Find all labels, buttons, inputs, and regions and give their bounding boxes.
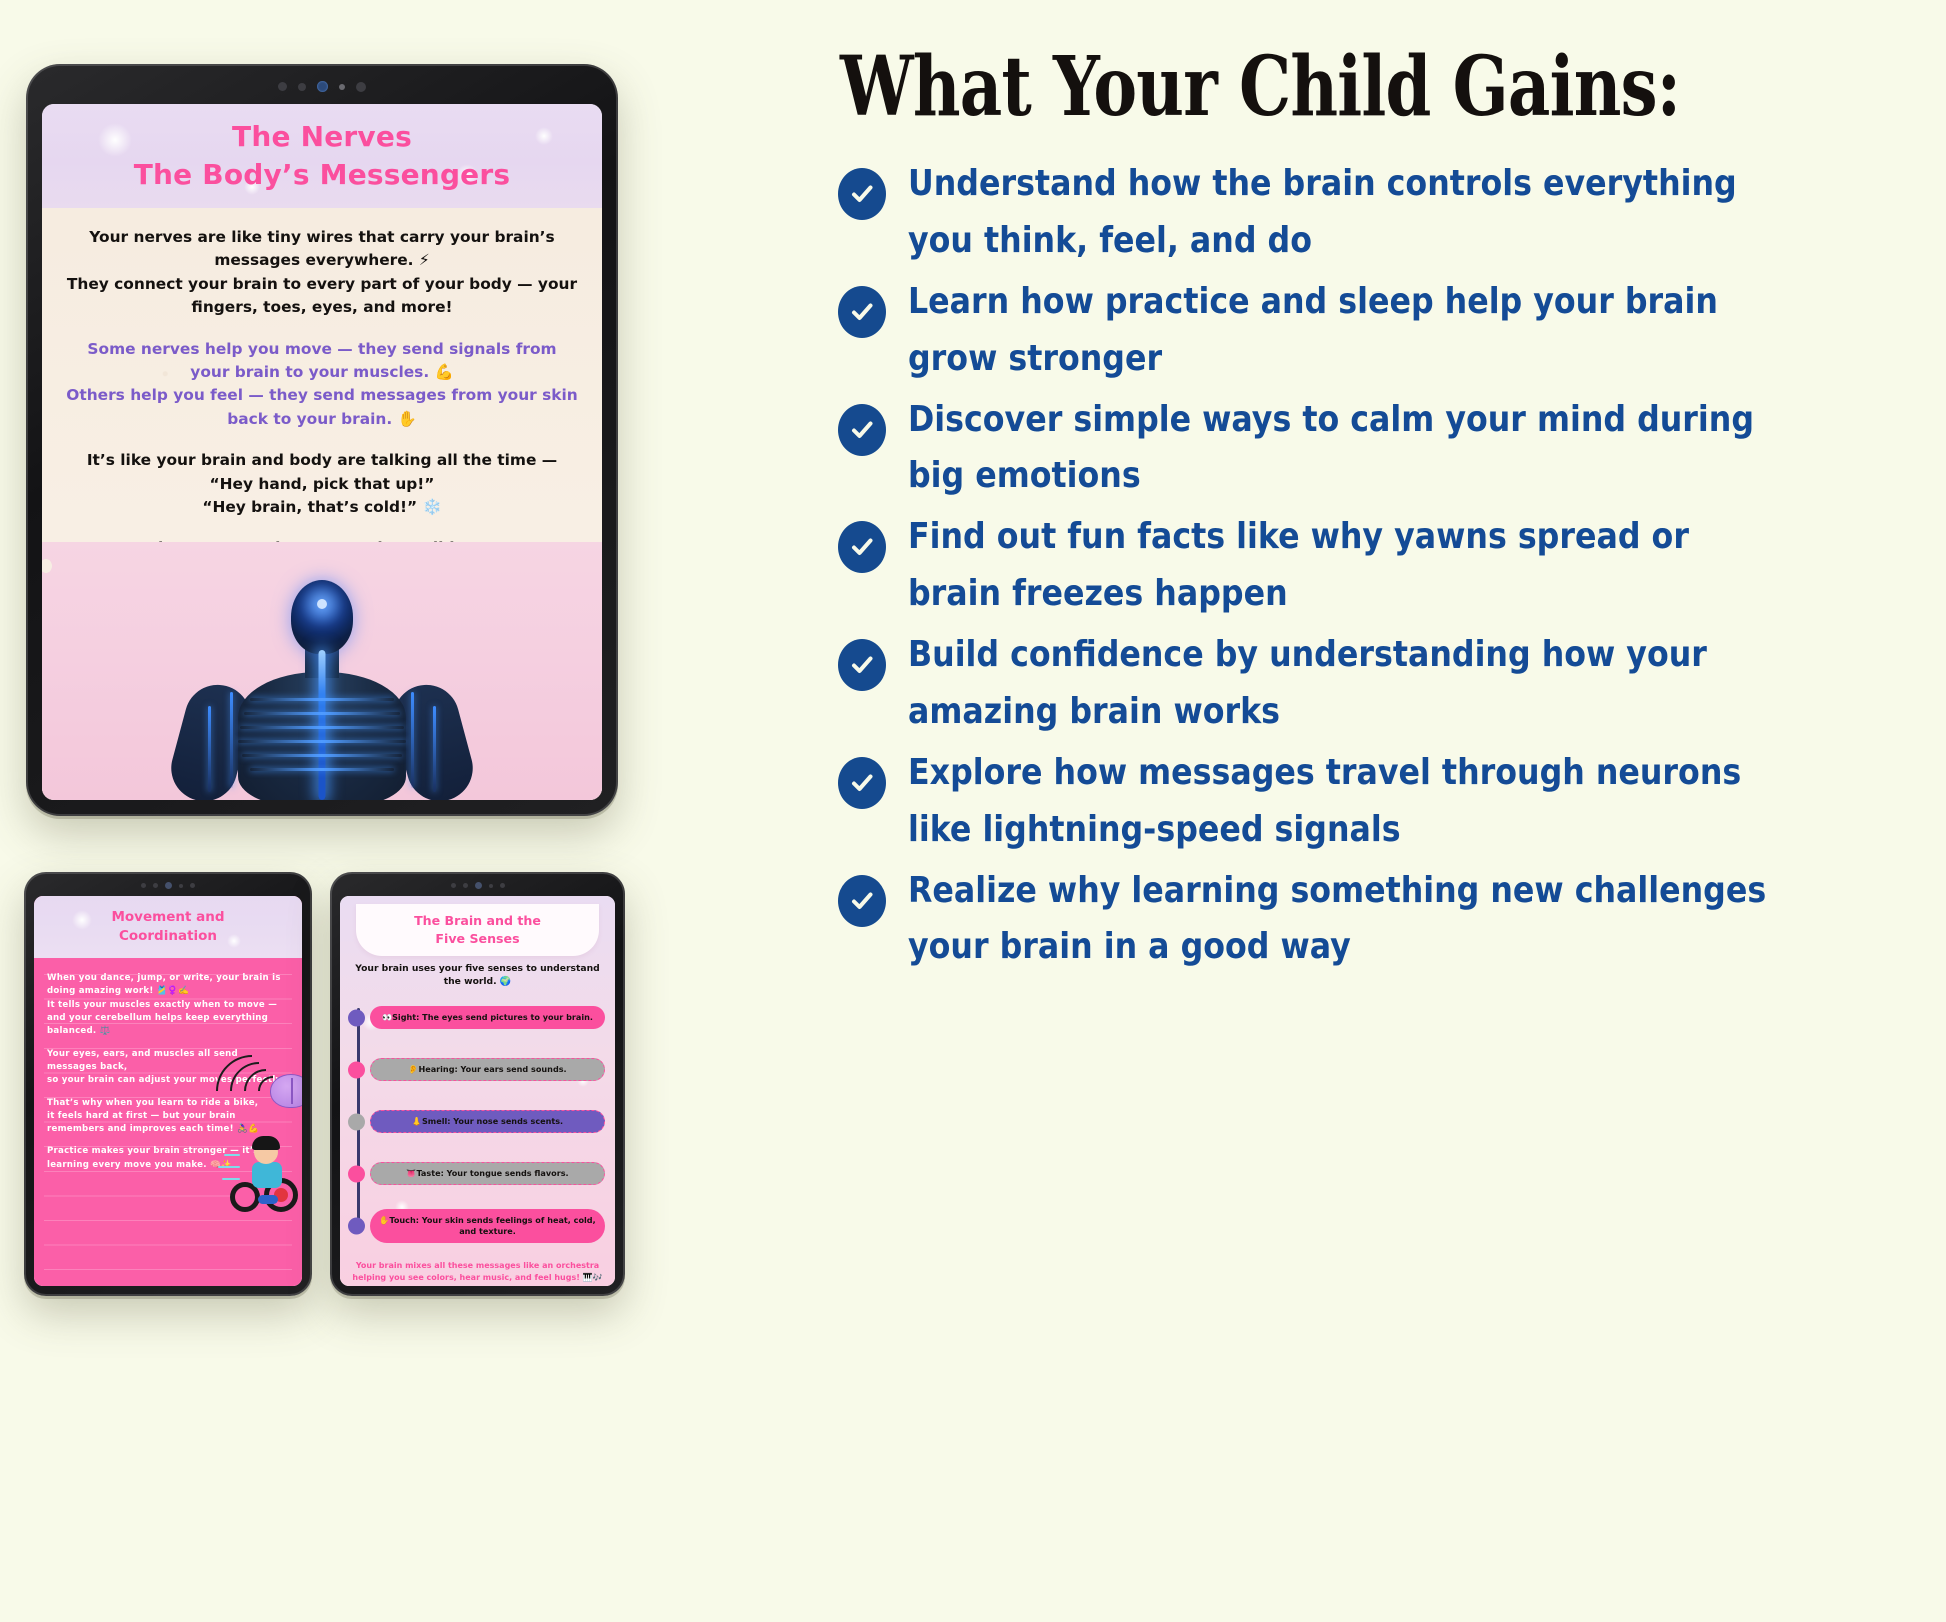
page-title-card: The Brain and the Five Senses <box>356 904 599 956</box>
sense-label: Taste <box>416 1168 440 1178</box>
page-title-line1: The Brain and the <box>414 913 541 928</box>
check-circle-icon <box>838 521 886 573</box>
check-circle-icon <box>838 639 886 691</box>
benefit-text-line2: amazing brain works <box>908 684 1707 741</box>
benefit-text-line2: you think, feel, and do <box>908 213 1737 270</box>
sense-pill: 👂Hearing: Your ears send sounds. <box>370 1058 605 1081</box>
benefit-text: Build confidence by understanding how yo… <box>908 627 1707 741</box>
benefit-text-line1: Discover simple ways to calm your mind d… <box>908 392 1754 449</box>
benefit-text: Realize why learning something new chall… <box>908 863 1766 977</box>
sense-description: : Your ears send sounds. <box>454 1064 566 1074</box>
benefit-text-line1: Understand how the brain controls everyt… <box>908 156 1737 213</box>
benefit-text-line1: Explore how messages travel through neur… <box>908 745 1741 802</box>
check-circle-icon <box>838 286 886 338</box>
sense-description: : The eyes send pictures to your brain. <box>416 1012 593 1022</box>
senses-list: 👀Sight: The eyes send pictures to your b… <box>340 996 605 1247</box>
page-title-line2: The Body’s Messengers <box>134 158 511 191</box>
body-paragraph: and your cerebellum helps keep everythin… <box>47 1012 289 1039</box>
body-paragraph-purple: Others help you feel — they send message… <box>66 384 578 431</box>
page-title: The Nerves The Body’s Messengers <box>134 118 511 194</box>
sense-row: 👅Taste: Your tongue sends flavors. <box>370 1152 605 1195</box>
tablet-screen-movement: Movement and Coordination When you dance… <box>34 896 302 1286</box>
body-paragraph: “Hey hand, pick that up!” <box>66 473 578 496</box>
check-circle-icon <box>838 404 886 456</box>
page-title: Movement and Coordination <box>111 908 224 946</box>
tablet-device-main[interactable]: The Nerves The Body’s Messengers Your ne… <box>26 64 618 816</box>
benefit-text-line1: Learn how practice and sleep help your b… <box>908 274 1718 331</box>
body-paragraph: It tells your muscles exactly when to mo… <box>47 999 289 1012</box>
body-paragraph: It’s like your brain and body are talkin… <box>66 449 578 472</box>
page-movement-coordination: Movement and Coordination When you dance… <box>34 896 302 1286</box>
timeline-dot <box>348 1217 365 1234</box>
benefit-item: Realize why learning something new chall… <box>838 863 1938 977</box>
ear-icon: 👂 <box>408 1064 418 1074</box>
sense-label: Hearing <box>418 1064 454 1074</box>
body-paragraph-purple: Some nerves help you move — they send si… <box>66 338 578 385</box>
eyes-icon: 👀 <box>382 1012 392 1022</box>
sense-row: ✋Touch: Your skin sends feelings of heat… <box>370 1204 605 1247</box>
page-title: The Brain and the Five Senses <box>362 912 593 947</box>
hand-icon: ✋ <box>379 1215 389 1225</box>
benefit-item: Explore how messages travel through neur… <box>838 745 1938 859</box>
benefit-text: Learn how practice and sleep help your b… <box>908 274 1718 388</box>
benefit-text-line2: big emotions <box>908 448 1754 505</box>
tablet-screen-five-senses: The Brain and the Five Senses Your brain… <box>340 896 615 1286</box>
page-title-line1: Movement and <box>111 909 224 925</box>
page-the-nerves: The Nerves The Body’s Messengers Your ne… <box>42 104 602 800</box>
brain-icon <box>270 1074 302 1108</box>
tablet-screen-main: The Nerves The Body’s Messengers Your ne… <box>42 104 602 800</box>
benefit-text: Explore how messages travel through neur… <box>908 745 1741 859</box>
tongue-icon: 👅 <box>406 1168 416 1178</box>
benefit-text: Understand how the brain controls everyt… <box>908 156 1737 270</box>
torn-paper-edge <box>42 542 602 584</box>
brain-waves-icon <box>202 1054 302 1128</box>
check-circle-icon <box>838 875 886 927</box>
body-paragraph: “Hey brain, that’s cold!” ❄️ <box>66 496 578 519</box>
timeline-dot <box>348 1009 365 1026</box>
intro-text: Your brain uses your five senses to unde… <box>340 956 615 992</box>
camera-sensor-dots <box>141 882 195 889</box>
check-circle-icon <box>838 168 886 220</box>
page-brain-five-senses: The Brain and the Five Senses Your brain… <box>340 896 615 1286</box>
benefit-text-line2: like lightning-speed signals <box>908 802 1741 859</box>
sense-description: : Your tongue sends flavors. <box>441 1168 569 1178</box>
page-header-band: The Nerves The Body’s Messengers <box>42 104 602 208</box>
check-circle-icon <box>838 757 886 809</box>
sense-label: Touch <box>389 1215 415 1225</box>
sense-pill: 👅Taste: Your tongue sends flavors. <box>370 1162 605 1185</box>
benefit-item: Find out fun facts like why yawns spread… <box>838 509 1938 623</box>
sense-label: Sight <box>392 1012 416 1022</box>
sense-pill: 👀Sight: The eyes send pictures to your b… <box>370 1006 605 1029</box>
benefit-text: Discover simple ways to calm your mind d… <box>908 392 1754 506</box>
benefits-panel: What Your Child Gains: Understand how th… <box>838 0 1946 1622</box>
benefit-text-line2: your brain in a good way <box>908 919 1766 976</box>
sense-pill: ✋Touch: Your skin sends feelings of heat… <box>370 1209 605 1243</box>
page-title-line2: Five Senses <box>435 931 519 946</box>
nose-icon: 👃 <box>412 1116 422 1126</box>
body-paragraph: When you dance, jump, or write, your bra… <box>47 972 289 999</box>
nervous-system-anatomy-illustration <box>42 542 602 800</box>
page-body: When you dance, jump, or write, your bra… <box>34 958 302 1286</box>
body-paragraph: They connect your brain to every part of… <box>66 273 578 320</box>
timeline-dot <box>348 1113 365 1130</box>
benefit-text-line2: brain freezes happen <box>908 566 1689 623</box>
footer-text: Your brain mixes all these messages like… <box>340 1256 615 1284</box>
sense-row: 👂Hearing: Your ears send sounds. <box>370 1048 605 1091</box>
benefit-item: Understand how the brain controls everyt… <box>838 156 1938 270</box>
camera-sensor-dots <box>451 882 505 889</box>
device-mockups-panel: The Nerves The Body’s Messengers Your ne… <box>0 0 810 1622</box>
camera-sensor-dots <box>278 81 366 92</box>
timeline-dot <box>348 1061 365 1078</box>
benefit-item: Discover simple ways to calm your mind d… <box>838 392 1938 506</box>
benefit-text: Find out fun facts like why yawns spread… <box>908 509 1689 623</box>
benefit-text-line1: Build confidence by understanding how yo… <box>908 627 1707 684</box>
benefit-text-line1: Realize why learning something new chall… <box>908 863 1766 920</box>
benefit-item: Learn how practice and sleep help your b… <box>838 274 1938 388</box>
benefit-item: Build confidence by understanding how yo… <box>838 627 1938 741</box>
page-title-line2: Coordination <box>119 928 217 944</box>
sense-description: : Your skin sends feelings of heat, cold… <box>416 1215 596 1236</box>
sense-label: Smell <box>422 1116 447 1126</box>
tablet-device-five-senses[interactable]: The Brain and the Five Senses Your brain… <box>330 872 625 1296</box>
benefit-text-line1: Find out fun facts like why yawns spread… <box>908 509 1689 566</box>
page-title: What Your Child Gains: <box>840 44 1718 130</box>
benefits-list: Understand how the brain controls everyt… <box>838 156 1938 976</box>
timeline-dot <box>348 1165 365 1182</box>
page-body: Your nerves are like tiny wires that car… <box>42 208 602 800</box>
page-header-band: Movement and Coordination <box>34 896 302 958</box>
tablet-device-movement[interactable]: Movement and Coordination When you dance… <box>24 872 312 1296</box>
sense-row: 👃Smell: Your nose sends scents. <box>370 1100 605 1143</box>
benefit-text-line2: grow stronger <box>908 331 1718 388</box>
sense-description: : Your nose sends scents. <box>447 1116 563 1126</box>
child-riding-bike-illustration <box>216 1124 300 1212</box>
anatomy-figure <box>172 580 472 800</box>
sense-pill: 👃Smell: Your nose sends scents. <box>370 1110 605 1133</box>
page-title-line1: The Nerves <box>232 120 412 153</box>
body-paragraph: Your nerves are like tiny wires that car… <box>66 226 578 273</box>
sense-row: 👀Sight: The eyes send pictures to your b… <box>370 996 605 1039</box>
